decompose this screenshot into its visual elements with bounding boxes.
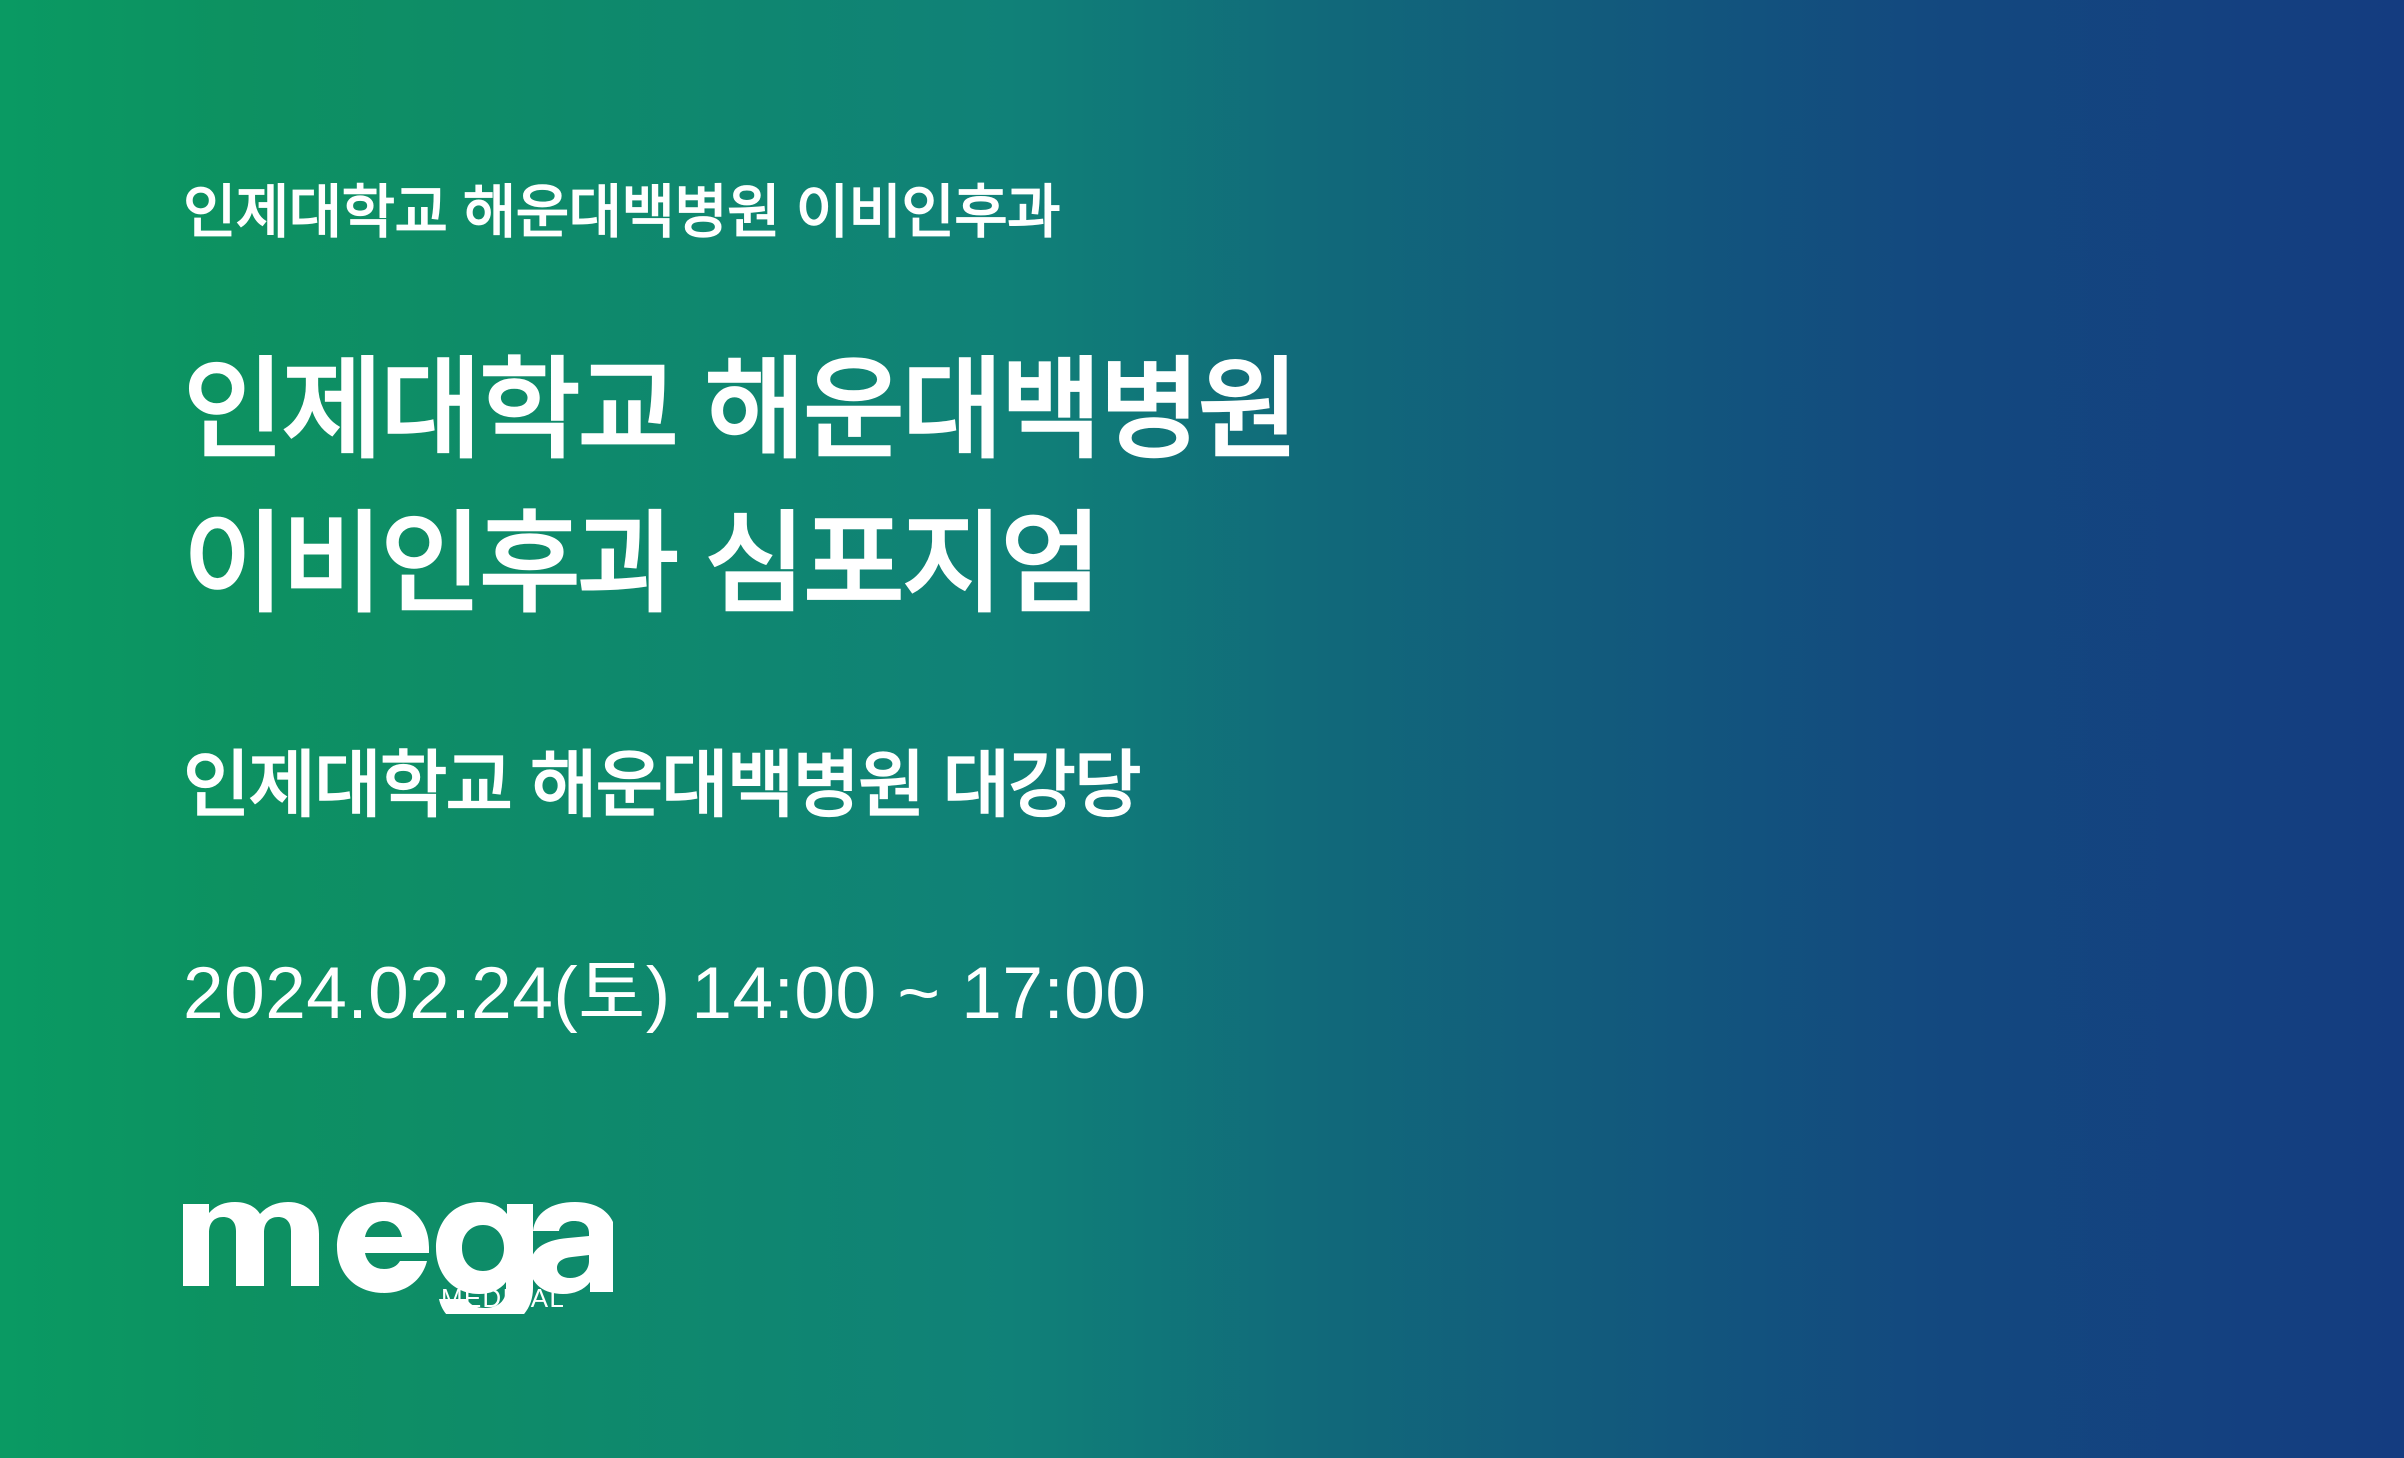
mega-medical-logo: MEDICAL	[183, 1186, 613, 1314]
logo-subtext: MEDICAL	[441, 1283, 565, 1313]
banner-venue: 인제대학교 해운대백병원 대강당	[183, 742, 1140, 830]
banner-datetime: 2024.02.24(토) 14:00 ~ 17:00	[183, 950, 1146, 1038]
banner-eyebrow: 인제대학교 해운대백병원 이비인후과	[183, 181, 1060, 246]
page-title: 인제대학교 해운대백병원 이비인후과 심포지엄	[183, 334, 1297, 642]
symposium-banner: 인제대학교 해운대백병원 이비인후과 인제대학교 해운대백병원 이비인후과 심포…	[0, 0, 2404, 1458]
